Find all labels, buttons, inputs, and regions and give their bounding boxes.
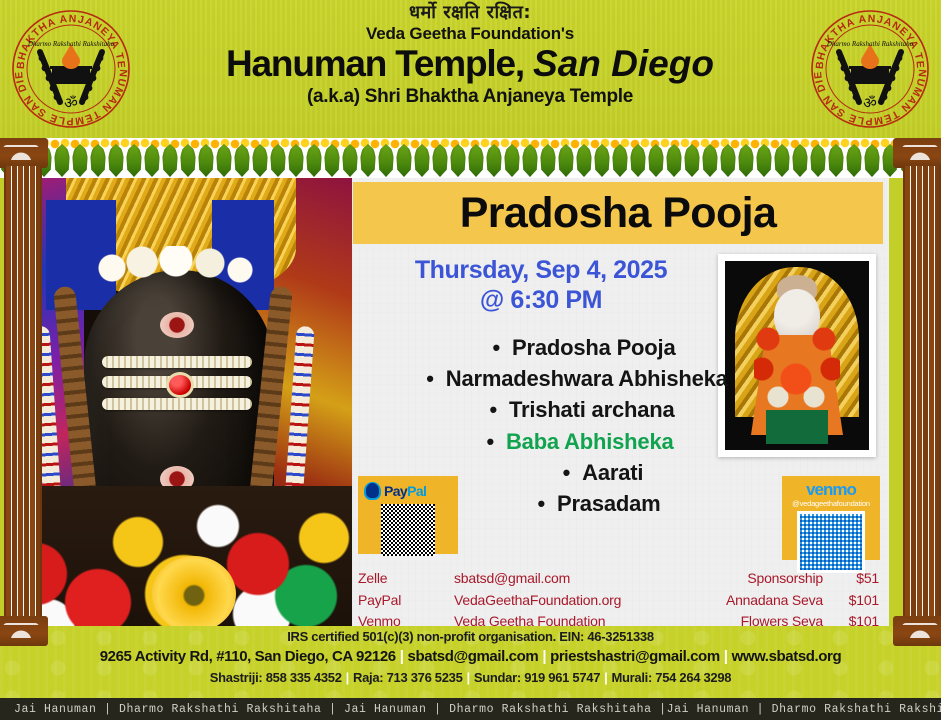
- separator: |: [720, 648, 732, 665]
- alternate-name: (a.k.a) Shri Bhaktha Anjaneya Temple: [150, 87, 790, 107]
- mango-leaf: [306, 144, 322, 177]
- mango-leaf: [702, 144, 718, 177]
- irs-statement: IRS certified 501(c)(3) non-profit organ…: [0, 629, 941, 644]
- paypal-wordmark: PayPal: [384, 483, 426, 499]
- mango-leaf: [396, 144, 412, 177]
- mango-leaf: [792, 144, 808, 177]
- temple-logo-left: SHRI BHAKTHA ANJANEYA TEMPLE HANUMAN TEM…: [8, 6, 134, 132]
- separator: |: [538, 648, 550, 665]
- pillar-right: [899, 138, 941, 646]
- mango-leaf: [756, 144, 772, 177]
- bullet-icon: •: [493, 332, 501, 363]
- paypal-qr-code[interactable]: [381, 504, 435, 556]
- pillar-right-base: [893, 616, 941, 646]
- pillar-right-capital: [893, 138, 941, 168]
- mango-leaf: [468, 144, 484, 177]
- tilak-upper: [160, 312, 194, 338]
- separator: |: [463, 670, 474, 685]
- list-item-label: Aarati: [582, 460, 643, 485]
- event-title: Pradosha Pooja: [460, 189, 777, 238]
- seva-row: Annadana Seva$101: [689, 590, 879, 612]
- event-title-banner: Pradosha Pooja: [353, 182, 883, 244]
- contact-line: 9265 Activity Rd, #110, San Diego, CA 92…: [0, 648, 941, 665]
- mango-leaf: [144, 144, 160, 177]
- venmo-wordmark: venmo: [788, 481, 874, 498]
- mango-leaf: [864, 144, 880, 177]
- list-item: •Baba Abhisheka: [362, 426, 792, 457]
- temple-logo-right: SHRI BHAKTHA ANJANEYA TEMPLE HANUMAN TEM…: [807, 6, 933, 132]
- mango-leaf: [234, 144, 250, 177]
- mango-leaf: [828, 144, 844, 177]
- list-item-label: Trishati archana: [509, 397, 675, 422]
- bullet-icon: •: [537, 488, 545, 519]
- list-item-label-highlight: Baba Abhisheka: [506, 429, 674, 454]
- title-italic: San Diego: [533, 43, 714, 84]
- mango-leaf: [504, 144, 520, 177]
- mango-leaf-toran: [0, 138, 941, 178]
- pillar-left-capital: [0, 138, 48, 168]
- mango-leaf: [594, 144, 610, 177]
- mango-leaf: [648, 144, 664, 177]
- list-item-label: Pradosha Pooja: [512, 335, 675, 360]
- mango-leaf: [288, 144, 304, 177]
- mango-leaf: [414, 144, 430, 177]
- payment-method-name: PayPal: [358, 590, 454, 612]
- svg-text:Dharmo Rakshathi Rakshitaha: Dharmo Rakshathi Rakshitaha: [27, 40, 115, 48]
- seva-name: Annadana Seva: [689, 590, 833, 612]
- mango-leaf: [738, 144, 754, 177]
- contact-murali: Murali: 754 264 3298: [611, 670, 731, 685]
- mango-leaf: [126, 144, 142, 177]
- bullet-icon: •: [426, 363, 434, 394]
- mango-leaf: [54, 144, 70, 177]
- title-main: Hanuman Temple,: [226, 43, 524, 84]
- footer: IRS certified 501(c)(3) non-profit organ…: [0, 626, 941, 698]
- payment-method-value: VedaGeethaFoundation.org: [454, 590, 658, 612]
- venmo-handle: @vedageethafoundation: [788, 499, 874, 508]
- footer-website[interactable]: www.sbatsd.org: [732, 648, 842, 665]
- svg-text:ॐ: ॐ: [64, 94, 78, 112]
- pearl-band-1: [102, 356, 252, 368]
- temple-address: 9265 Activity Rd, #110, San Diego, CA 92…: [100, 648, 396, 665]
- separator: |: [342, 670, 353, 685]
- mango-leaf: [252, 144, 268, 177]
- footer-email-2[interactable]: priestshastri@gmail.com: [550, 648, 720, 665]
- list-item: •Narmadeshwara Abhisheka: [362, 363, 792, 394]
- payment-method-value: sbatsd@gmail.com: [454, 568, 658, 590]
- contact-sundar: Sundar: 919 961 5747: [474, 670, 600, 685]
- contact-shastriji: Shastriji: 858 335 4352: [210, 670, 342, 685]
- seva-amounts-list: Sponsorship$51 Annadana Seva$101 Flowers…: [689, 568, 879, 633]
- pillar-left: [0, 138, 42, 646]
- mango-leaf: [108, 144, 124, 177]
- sanskrit-motto: धर्मो रक्षति रक्षित:: [150, 4, 790, 23]
- event-date: Thursday, Sep 4, 2025: [376, 256, 706, 286]
- mango-leaf: [198, 144, 214, 177]
- bullet-icon: •: [486, 426, 494, 457]
- venmo-qr-card[interactable]: venmo @vedageethafoundation: [782, 476, 880, 560]
- pillar-right-shaft: [903, 166, 941, 618]
- mango-leaf: [432, 144, 448, 177]
- chant-ticker: Jai Hanuman | Dharmo Rakshathi Rakshitah…: [0, 698, 941, 720]
- paypal-wordmark-pal: Pal: [407, 483, 426, 499]
- separator: |: [396, 648, 408, 665]
- mango-leaf: [270, 144, 286, 177]
- list-item: •Trishati archana: [362, 394, 792, 425]
- page-title: Hanuman Temple, San Diego: [150, 45, 790, 84]
- foundation-name: Veda Geetha Foundation's: [150, 25, 790, 43]
- header-banner: SHRI BHAKTHA ANJANEYA TEMPLE HANUMAN TEM…: [0, 0, 941, 140]
- mango-leaf: [72, 144, 88, 177]
- mango-leaf: [540, 144, 556, 177]
- seva-amount: $101: [833, 590, 879, 612]
- payment-methods-list: Zellesbatsd@gmail.com PayPalVedaGeethaFo…: [358, 568, 658, 633]
- mango-leaf: [720, 144, 736, 177]
- seva-amount: $51: [833, 568, 879, 590]
- list-item-label: Narmadeshwara Abhisheka: [446, 366, 728, 391]
- bullet-icon: •: [489, 394, 497, 425]
- seva-name: Sponsorship: [689, 568, 833, 590]
- white-flower-crown: [98, 246, 258, 290]
- svg-text:ॐ: ॐ: [863, 94, 877, 112]
- seva-row: Sponsorship$51: [689, 568, 879, 590]
- paypal-icon: [364, 482, 381, 500]
- contact-raja: Raja: 713 376 5235: [353, 670, 463, 685]
- mango-leaf: [486, 144, 502, 177]
- mango-leaf: [810, 144, 826, 177]
- shiva-lingam-photo: [6, 176, 352, 646]
- mango-leaf: [180, 144, 196, 177]
- flyer-root: SHRI BHAKTHA ANJANEYA TEMPLE HANUMAN TEM…: [0, 0, 941, 720]
- mango-leaf: [450, 144, 466, 177]
- mango-leaf: [558, 144, 574, 177]
- paypal-logo: PayPal: [364, 481, 452, 501]
- footer-email-1[interactable]: sbatsd@gmail.com: [408, 648, 539, 665]
- pillar-left-shaft: [4, 166, 42, 618]
- mango-leaf: [612, 144, 628, 177]
- mango-leaf: [360, 144, 376, 177]
- payment-row: PayPalVedaGeethaFoundation.org: [358, 590, 658, 612]
- mango-leaf: [630, 144, 646, 177]
- pearl-band-3: [102, 398, 252, 410]
- mango-leaf: [216, 144, 232, 177]
- mango-leaf: [846, 144, 862, 177]
- event-datetime: Thursday, Sep 4, 2025 @ 6:30 PM: [376, 256, 706, 315]
- svg-text:Dharmo Rakshathi Rakshitaha: Dharmo Rakshathi Rakshitaha: [826, 40, 914, 48]
- sunflower: [152, 556, 236, 632]
- phone-contacts: Shastriji: 858 335 4352|Raja: 713 376 52…: [0, 670, 941, 685]
- bullet-icon: •: [563, 457, 571, 488]
- event-panel: Pradosha Pooja Thursday, Sep 4, 2025 @ 6…: [352, 176, 889, 646]
- mango-leaf: [378, 144, 394, 177]
- mango-leaf: [774, 144, 790, 177]
- payment-method-name: Zelle: [358, 568, 454, 590]
- venmo-qr-code[interactable]: [797, 511, 865, 573]
- mango-leaf: [342, 144, 358, 177]
- list-item-label: Prasadam: [557, 491, 661, 516]
- header-text-block: धर्मो रक्षति रक्षित: Veda Geetha Foundat…: [150, 4, 790, 107]
- mango-leaf: [576, 144, 592, 177]
- mango-leaf: [666, 144, 682, 177]
- event-time: @ 6:30 PM: [376, 286, 706, 316]
- list-item: •Pradosha Pooja: [362, 332, 792, 363]
- mango-leaf: [324, 144, 340, 177]
- mango-leaf: [90, 144, 106, 177]
- ruby-centerpiece: [166, 372, 194, 398]
- payment-row: Zellesbatsd@gmail.com: [358, 568, 658, 590]
- separator: |: [600, 670, 611, 685]
- pillar-left-base: [0, 616, 48, 646]
- mango-leaf: [684, 144, 700, 177]
- mango-leaf: [162, 144, 178, 177]
- leaf-row: [0, 144, 941, 178]
- paypal-qr-card[interactable]: PayPal: [358, 476, 458, 554]
- mango-leaf: [522, 144, 538, 177]
